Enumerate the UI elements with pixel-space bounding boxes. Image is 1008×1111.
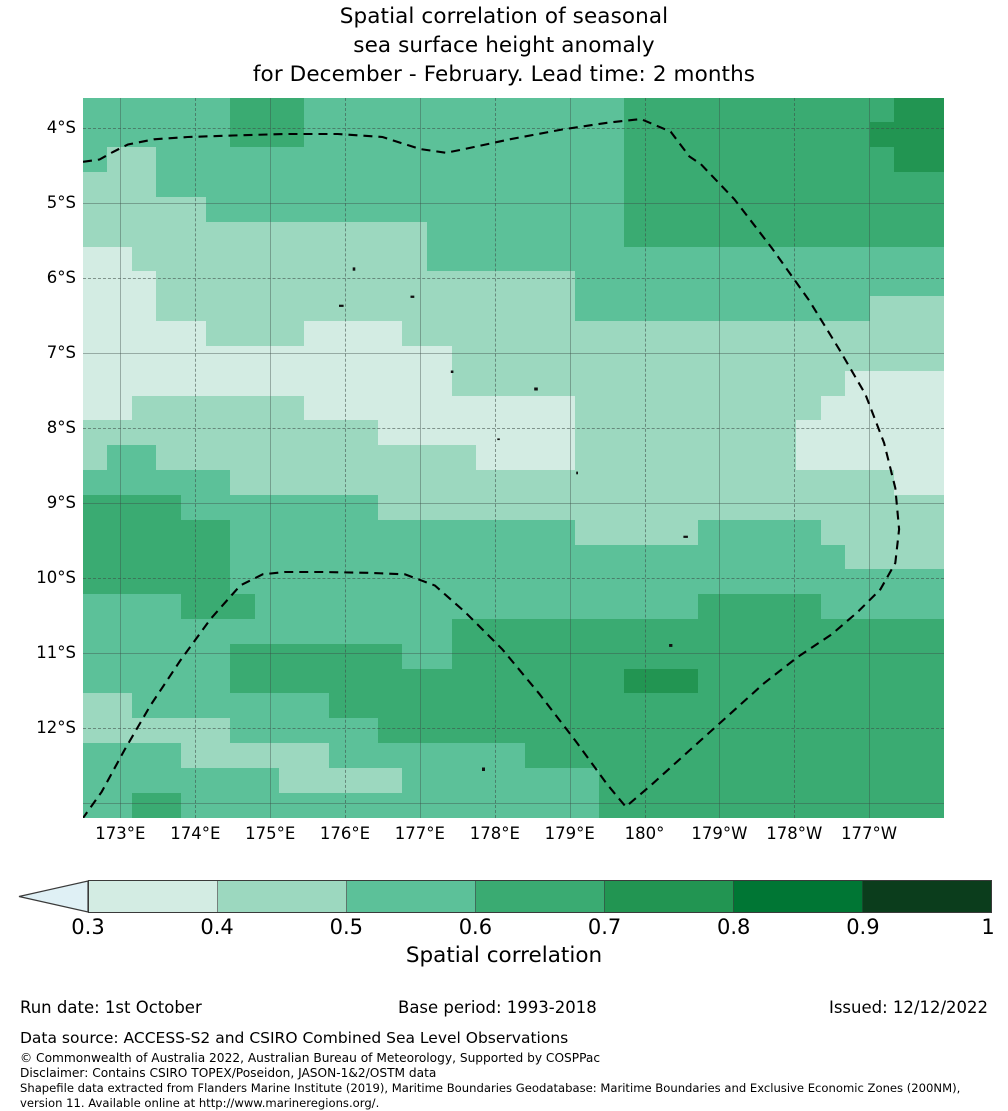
heatmap-cell	[83, 172, 108, 198]
heatmap-cell	[870, 743, 896, 769]
heatmap-cell	[624, 718, 650, 744]
heatmap-cell	[747, 371, 773, 397]
heatmap-cell	[698, 594, 724, 620]
heatmap-cell	[230, 197, 256, 223]
heatmap-cell	[427, 693, 453, 719]
heatmap-cell	[107, 371, 133, 397]
heatmap-cell	[747, 445, 773, 471]
heatmap-cell	[525, 520, 551, 546]
heatmap-cell	[821, 793, 847, 818]
heatmap-cell	[722, 271, 748, 297]
heatmap-cell	[230, 98, 256, 123]
heatmap-cell	[821, 619, 847, 645]
heatmap-cell	[304, 644, 330, 670]
heatmap-cell	[329, 495, 355, 521]
heatmap-cell	[279, 445, 305, 471]
heatmap-cell	[722, 669, 748, 695]
heatmap-cell	[575, 495, 601, 521]
heatmap-cell	[107, 122, 133, 148]
heatmap-cell	[870, 693, 896, 719]
heatmap-cell	[329, 247, 355, 273]
heatmap-cell	[83, 743, 108, 769]
latitude-tick-label: 4°S	[12, 120, 76, 136]
heatmap-cell	[452, 420, 478, 446]
heatmap-cell	[402, 793, 428, 818]
heatmap-cell	[648, 197, 674, 223]
heatmap-cell	[575, 619, 601, 645]
heatmap-cell	[378, 247, 404, 273]
heatmap-cell	[329, 594, 355, 620]
heatmap-cell	[919, 98, 944, 123]
heatmap-cell	[599, 321, 625, 347]
heatmap-cell	[132, 743, 158, 769]
heatmap-cell	[156, 569, 182, 595]
heatmap-cell	[919, 197, 944, 223]
heatmap-cell	[501, 247, 527, 273]
heatmap-cell	[156, 271, 182, 297]
heatmap-cell	[452, 545, 478, 571]
heatmap-cell	[747, 569, 773, 595]
heatmap-cell	[624, 396, 650, 422]
heatmap-cell	[255, 222, 281, 248]
heatmap-cell	[575, 271, 601, 297]
heatmap-cell	[353, 569, 379, 595]
extend-arrow-shape	[19, 881, 88, 912]
heatmap-cell	[821, 594, 847, 620]
heatmap-cell	[255, 520, 281, 546]
heatmap-cell	[747, 271, 773, 297]
heatmap-cell	[230, 520, 256, 546]
heatmap-cell	[132, 247, 158, 273]
heatmap-cell	[821, 669, 847, 695]
longitude-tick-label: 177°W	[841, 824, 897, 844]
heatmap-cell	[624, 793, 650, 818]
heatmap-cell	[599, 594, 625, 620]
heatmap-cell	[132, 445, 158, 471]
heatmap-cell	[919, 693, 944, 719]
heatmap-cell	[181, 396, 207, 422]
heatmap-cell	[501, 445, 527, 471]
heatmap-cell	[624, 122, 650, 148]
heatmap-cell	[599, 396, 625, 422]
colorbar-extend-arrow	[18, 880, 89, 913]
heatmap-cell	[525, 371, 551, 397]
heatmap-cell	[501, 470, 527, 496]
heatmap-cell	[156, 197, 182, 223]
heatmap-cell	[771, 594, 797, 620]
heatmap-cell	[771, 718, 797, 744]
heatmap-cell	[156, 346, 182, 372]
heatmap-cell	[698, 346, 724, 372]
heatmap-cell	[919, 271, 944, 297]
heatmap-cell	[156, 470, 182, 496]
heatmap-cell	[821, 172, 847, 198]
heatmap-cell	[427, 296, 453, 322]
heatmap-cell	[648, 147, 674, 173]
heatmap-cell	[575, 396, 601, 422]
heatmap-cell	[845, 520, 871, 546]
heatmap-cell	[599, 768, 625, 794]
heatmap-cell	[353, 545, 379, 571]
heatmap-cell	[894, 147, 920, 173]
colorbar[interactable]: Spatial correlation 0.30.40.50.60.70.80.…	[0, 875, 1008, 965]
heatmap-cell	[599, 296, 625, 322]
heatmap-cell	[796, 743, 822, 769]
heatmap-cell	[550, 718, 576, 744]
heatmap-cell	[402, 495, 428, 521]
longitude-tick-label: 180°	[625, 824, 665, 844]
heatmap-cell	[279, 545, 305, 571]
heatmap-cell	[821, 644, 847, 670]
heatmap-cell	[821, 520, 847, 546]
heatmap-cell	[796, 644, 822, 670]
heatmap-cell	[550, 520, 576, 546]
heatmap-cell	[525, 98, 551, 123]
heatmap-cell	[452, 296, 478, 322]
heatmap-cell	[550, 420, 576, 446]
heatmap-cell	[181, 197, 207, 223]
heatmap-cell	[698, 520, 724, 546]
heatmap-cell	[156, 768, 182, 794]
heatmap-cell	[304, 172, 330, 198]
heatmap-cell	[821, 247, 847, 273]
heatmap-cell	[402, 247, 428, 273]
heatmap-cell	[329, 445, 355, 471]
heatmap-cell	[402, 346, 428, 372]
heatmap-cell	[845, 296, 871, 322]
heatmap-cell	[722, 768, 748, 794]
heatmap-cell	[722, 321, 748, 347]
heatmap-cell	[206, 743, 232, 769]
correlation-map[interactable]	[83, 98, 944, 818]
heatmap-cell	[329, 420, 355, 446]
heatmap-cell	[894, 296, 920, 322]
heatmap-cell	[821, 98, 847, 123]
heatmap-cell	[599, 271, 625, 297]
heatmap-cell	[279, 396, 305, 422]
heatmap-cell	[279, 743, 305, 769]
heatmap-cell	[648, 718, 674, 744]
heatmap-cell	[575, 122, 601, 148]
heatmap-cell	[894, 520, 920, 546]
heatmap-cell	[870, 545, 896, 571]
heatmap-cell	[329, 793, 355, 818]
heatmap-cell	[255, 346, 281, 372]
heatmap-cell	[107, 793, 133, 818]
heatmap-cell	[919, 296, 944, 322]
heatmap-cell	[870, 569, 896, 595]
heatmap-cell	[550, 371, 576, 397]
heatmap-cell	[427, 371, 453, 397]
longitude-tick-label: 173°E	[95, 824, 145, 844]
heatmap-cell	[648, 569, 674, 595]
heatmap-cell	[722, 594, 748, 620]
heatmap-cell	[525, 693, 551, 719]
heatmap-cell	[476, 371, 502, 397]
heatmap-cell	[329, 768, 355, 794]
heatmap-cell	[624, 693, 650, 719]
heatmap-cell	[501, 520, 527, 546]
heatmap-cell	[624, 619, 650, 645]
heatmap-cell	[845, 197, 871, 223]
heatmap-cell	[132, 222, 158, 248]
heatmap-cell	[747, 222, 773, 248]
heatmap-cell	[599, 520, 625, 546]
heatmap-cell	[378, 793, 404, 818]
heatmap-cell	[156, 222, 182, 248]
title-line-3: for December - February. Lead time: 2 mo…	[0, 60, 1008, 89]
heatmap-cell	[870, 768, 896, 794]
heatmap-cell	[230, 495, 256, 521]
heatmap-cell	[132, 420, 158, 446]
heatmap-cell	[870, 247, 896, 273]
heatmap-cell	[525, 445, 551, 471]
heatmap-cell	[673, 520, 699, 546]
heatmap-cell	[402, 296, 428, 322]
heatmap-cell	[476, 346, 502, 372]
heatmap-cell	[230, 371, 256, 397]
heatmap-cell	[255, 271, 281, 297]
heatmap-cell	[698, 172, 724, 198]
latitude-tick-label: 5°S	[12, 195, 76, 211]
heatmap-cell	[132, 793, 158, 818]
heatmap-cell	[427, 594, 453, 620]
heatmap-cell	[353, 172, 379, 198]
heatmap-cell	[550, 445, 576, 471]
heatmap-cell	[648, 793, 674, 818]
heatmap-cell	[575, 793, 601, 818]
heatmap-cell	[452, 693, 478, 719]
heatmap-cell	[845, 247, 871, 273]
heatmap-cell	[83, 445, 108, 471]
heatmap-cell	[206, 718, 232, 744]
heatmap-cell	[378, 693, 404, 719]
heatmap-cell	[771, 396, 797, 422]
heatmap-cell	[476, 793, 502, 818]
heatmap-cell	[796, 346, 822, 372]
heatmap-cell	[698, 693, 724, 719]
heatmap-cell	[550, 594, 576, 620]
heatmap-cell	[501, 495, 527, 521]
heatmap-cell	[525, 470, 551, 496]
heatmap-cell	[476, 197, 502, 223]
heatmap-cell	[206, 147, 232, 173]
heatmap-cell	[870, 321, 896, 347]
heatmap-cell	[304, 346, 330, 372]
heatmap-cell	[525, 222, 551, 248]
heatmap-cell	[378, 197, 404, 223]
heatmap-cell	[894, 445, 920, 471]
heatmap-cell	[132, 495, 158, 521]
heatmap-cell	[452, 669, 478, 695]
heatmap-cell	[230, 669, 256, 695]
heatmap-cell	[599, 98, 625, 123]
heatmap-cell	[870, 122, 896, 148]
heatmap-cell	[722, 197, 748, 223]
heatmap-cell	[279, 346, 305, 372]
heatmap-cell	[845, 271, 871, 297]
heatmap-cell	[156, 396, 182, 422]
heatmap-cell	[378, 98, 404, 123]
heatmap-cell	[821, 445, 847, 471]
heatmap-cell	[771, 346, 797, 372]
heatmap-cell	[279, 98, 305, 123]
heatmap-cell	[378, 619, 404, 645]
heatmap-cell	[378, 594, 404, 620]
heatmap-cell	[255, 470, 281, 496]
heatmap-cell	[304, 768, 330, 794]
heatmap-cell	[796, 495, 822, 521]
heatmap-cell	[501, 346, 527, 372]
heatmap-cell	[796, 768, 822, 794]
heatmap-cell	[771, 619, 797, 645]
heatmap-cell	[304, 594, 330, 620]
heatmap-cell	[771, 271, 797, 297]
heatmap-cell	[304, 197, 330, 223]
heatmap-cell	[919, 569, 944, 595]
heatmap-cell	[501, 693, 527, 719]
heatmap-cell	[304, 445, 330, 471]
heatmap-cell	[919, 520, 944, 546]
heatmap-cell	[845, 793, 871, 818]
heatmap-cell	[599, 371, 625, 397]
heatmap-cell	[550, 644, 576, 670]
heatmap-cell	[378, 271, 404, 297]
heatmap-cell	[919, 718, 944, 744]
heatmap-cell	[550, 346, 576, 372]
heatmap-cell	[919, 768, 944, 794]
colorbar-segment	[347, 881, 476, 912]
heatmap-cell	[255, 569, 281, 595]
heatmap-cell	[107, 693, 133, 719]
heatmap-cell	[673, 420, 699, 446]
heatmap-cell	[673, 470, 699, 496]
heatmap-cell	[919, 793, 944, 818]
heatmap-cell	[427, 793, 453, 818]
heatmap-cell	[722, 693, 748, 719]
heatmap-cell	[870, 445, 896, 471]
heatmap-cell	[156, 520, 182, 546]
heatmap-cell	[501, 396, 527, 422]
heatmap-cell	[255, 197, 281, 223]
latitude-tick-label: 9°S	[12, 495, 76, 511]
heatmap-cell	[132, 346, 158, 372]
heatmap-cell	[870, 420, 896, 446]
heatmap-cell	[255, 619, 281, 645]
heatmap-cell	[821, 396, 847, 422]
heatmap-cell	[427, 271, 453, 297]
heatmap-cell	[796, 619, 822, 645]
heatmap-cell	[525, 793, 551, 818]
heatmap-cell	[894, 495, 920, 521]
colorbar-tick-label: 0.8	[717, 915, 750, 939]
heatmap-cell	[353, 271, 379, 297]
heatmap-cell	[279, 495, 305, 521]
heatmap-cell	[329, 619, 355, 645]
heatmap-cell	[747, 520, 773, 546]
heatmap-cell	[870, 520, 896, 546]
heatmap-cell	[870, 396, 896, 422]
heatmap-cell	[525, 172, 551, 198]
heatmap-cell	[673, 197, 699, 223]
heatmap-cell	[722, 644, 748, 670]
heatmap-cell	[747, 172, 773, 198]
heatmap-cell	[230, 644, 256, 670]
heatmap-cell	[575, 321, 601, 347]
heatmap-cell	[894, 346, 920, 372]
heatmap-cell	[476, 321, 502, 347]
heatmap-cell	[279, 594, 305, 620]
heatmap-cell	[427, 396, 453, 422]
heatmap-cell	[648, 371, 674, 397]
heatmap-cell	[206, 768, 232, 794]
heatmap-cell	[894, 793, 920, 818]
heatmap-cell	[230, 768, 256, 794]
heatmap-cell	[525, 147, 551, 173]
heatmap-cell	[476, 271, 502, 297]
heatmap-cell	[181, 669, 207, 695]
heatmap-cell	[255, 396, 281, 422]
heatmap-cell	[378, 296, 404, 322]
heatmap-cell	[698, 371, 724, 397]
heatmap-cell	[698, 147, 724, 173]
heatmap-cell	[107, 718, 133, 744]
heatmap-cell	[304, 743, 330, 769]
heatmap-cell	[673, 172, 699, 198]
heatmap-cell	[279, 793, 305, 818]
heatmap-cell	[525, 495, 551, 521]
heatmap-cell	[476, 520, 502, 546]
heatmap-cell	[230, 247, 256, 273]
heatmap-cell	[550, 296, 576, 322]
heatmap-cell	[107, 296, 133, 322]
heatmap-cell	[329, 98, 355, 123]
heatmap-cell	[747, 122, 773, 148]
heatmap-cell	[599, 222, 625, 248]
heatmap-cell	[845, 346, 871, 372]
heatmap-cell	[402, 445, 428, 471]
heatmap-cell	[722, 718, 748, 744]
heatmap-cell	[255, 420, 281, 446]
heatmap-cell	[452, 371, 478, 397]
heatmap-cell	[698, 296, 724, 322]
heatmap-cell	[575, 520, 601, 546]
heatmap-cell	[353, 718, 379, 744]
heatmap-cell	[771, 98, 797, 123]
heatmap-cell	[279, 619, 305, 645]
heatmap-cell	[575, 222, 601, 248]
heatmap-cell	[747, 619, 773, 645]
heatmap-cell	[796, 371, 822, 397]
heatmap-cell	[698, 420, 724, 446]
heatmap-cell	[279, 768, 305, 794]
heatmap-cell	[452, 520, 478, 546]
heatmap-cell	[304, 495, 330, 521]
heatmap-cell	[452, 594, 478, 620]
colorbar-tick-label: 0.7	[588, 915, 621, 939]
heatmap-cell	[501, 545, 527, 571]
heatmap-cell	[402, 321, 428, 347]
heatmap-cell	[845, 743, 871, 769]
heatmap-cell	[673, 594, 699, 620]
heatmap-cell	[894, 644, 920, 670]
heatmap-cell	[452, 147, 478, 173]
heatmap-cell	[550, 743, 576, 769]
heatmap-cell	[181, 122, 207, 148]
heatmap-cell	[501, 296, 527, 322]
latitude-tick-label: 12°S	[12, 720, 76, 736]
heatmap-cell	[329, 569, 355, 595]
